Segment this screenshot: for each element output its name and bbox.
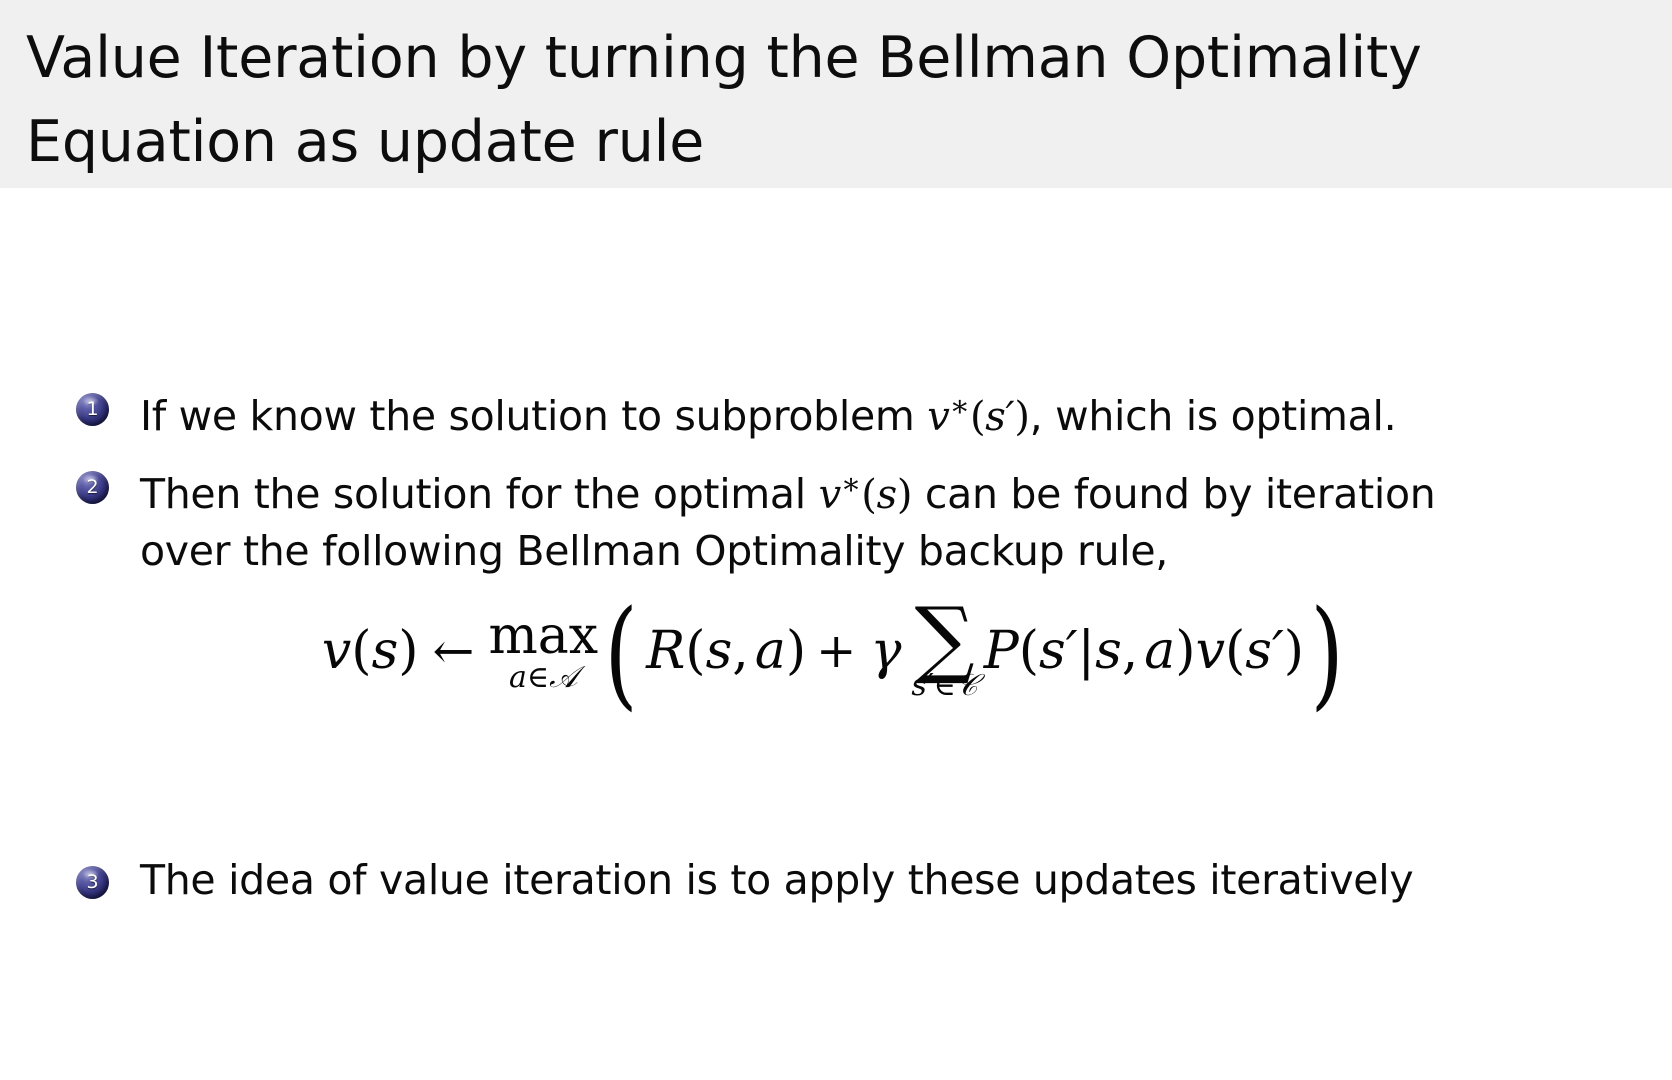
eq-max-subscript: a∈𝒜 bbox=[509, 662, 578, 694]
enumerate-item-3-line-1: The idea of value iteration is to apply … bbox=[140, 847, 1413, 913]
math-star-1: ∗ bbox=[950, 389, 970, 424]
display-equation: v(s) ← max a∈𝒜 ( R(s,a) + γ ∑ s′∈𝒞 P(s′|… bbox=[0, 603, 1672, 699]
eq-P-bar: | bbox=[1078, 622, 1096, 680]
eq-P-comma: , bbox=[1122, 622, 1145, 680]
eq-R-paren-close: ) bbox=[786, 622, 806, 680]
eq-R-comma: , bbox=[732, 622, 755, 680]
eq-gamma: γ bbox=[866, 621, 905, 681]
eq-P-a: a bbox=[1144, 622, 1175, 680]
eq-P-sprime: s bbox=[1039, 622, 1066, 680]
enumerate-item-2-text-b: can be found by iteration bbox=[912, 470, 1435, 518]
enumerate-item-2-text-a: Then the solution for the optimal bbox=[140, 470, 819, 518]
enumerate-item-1-line-1: If we know the solution to subproblem v∗… bbox=[140, 374, 1396, 450]
enumerate-item-1-text-a: If we know the solution to subproblem bbox=[140, 392, 927, 440]
eq-rhs-paren-close: ) bbox=[1284, 622, 1304, 680]
page-title-line-1: Value Iteration by turning the Bellman O… bbox=[26, 16, 1672, 100]
enumerate-bullet-1-icon: 1 bbox=[76, 393, 109, 426]
slide-title-band: Value Iteration by turning the Bellman O… bbox=[0, 0, 1672, 188]
eq-R-s: s bbox=[706, 622, 733, 680]
eq-max-sub-var: a bbox=[509, 660, 527, 695]
eq-R: R bbox=[646, 622, 685, 680]
eq-P-paren-open: ( bbox=[1019, 622, 1039, 680]
eq-summation: ∑ s′∈𝒞 bbox=[911, 607, 977, 703]
eq-lhs-paren-open: ( bbox=[351, 622, 371, 680]
math-paren-close-1: ) bbox=[1014, 394, 1029, 440]
eq-plus: + bbox=[806, 622, 866, 680]
eq-max-operator: max a∈𝒜 bbox=[488, 609, 598, 694]
enumerate-item-2-line-1: Then the solution for the optimal v∗(s) … bbox=[140, 452, 1435, 528]
eq-lhs-s: s bbox=[372, 622, 399, 680]
eq-max-label: max bbox=[488, 609, 598, 663]
enumerate-bullet-2-icon: 2 bbox=[76, 471, 109, 504]
enumerate-bullet-3-icon: 3 bbox=[76, 866, 109, 899]
equation-row: v(s) ← max a∈𝒜 ( R(s,a) + γ ∑ s′∈𝒞 P(s′|… bbox=[322, 603, 1350, 699]
eq-max-sub-set: 𝒜 bbox=[549, 660, 577, 695]
eq-assign-arrow-icon: ← bbox=[419, 622, 489, 680]
eq-lhs-paren-close: ) bbox=[398, 622, 418, 680]
math-paren-open-1: ( bbox=[970, 394, 985, 440]
math-v-1: v bbox=[927, 394, 949, 440]
enumerate-item-2-line-2: over the following Bellman Optimality ba… bbox=[140, 518, 1168, 584]
eq-rhs-s: s bbox=[1245, 622, 1272, 680]
math-sprime-1: s bbox=[985, 394, 1005, 440]
eq-sigma-icon: ∑ bbox=[915, 605, 975, 671]
eq-rhs-paren-open: ( bbox=[1225, 622, 1245, 680]
eq-lhs-v: v bbox=[322, 622, 351, 680]
math-paren-close-2: ) bbox=[897, 472, 912, 518]
eq-rhs-prime: ′ bbox=[1272, 622, 1284, 680]
eq-rhs-v: v bbox=[1196, 622, 1225, 680]
math-star-2: ∗ bbox=[841, 467, 861, 502]
slide-body: 1 If we know the solution to subproblem … bbox=[0, 188, 1672, 1080]
math-prime-1: ′ bbox=[1006, 394, 1015, 440]
eq-max-sub-in: ∈ bbox=[527, 660, 549, 695]
enumerate-item-1-text-b: , which is optimal. bbox=[1030, 392, 1397, 440]
eq-P-s: s bbox=[1095, 622, 1122, 680]
page-title-line-2: Equation as update rule bbox=[26, 100, 1672, 184]
math-v-2: v bbox=[819, 472, 841, 518]
math-paren-open-2: ( bbox=[861, 472, 876, 518]
eq-R-a: a bbox=[755, 622, 786, 680]
math-s-2: s bbox=[877, 472, 897, 518]
eq-P: P bbox=[984, 622, 1019, 680]
eq-R-paren-open: ( bbox=[685, 622, 705, 680]
eq-P-prime-mark: ′ bbox=[1066, 622, 1078, 680]
eq-P-paren-close: ) bbox=[1175, 622, 1195, 680]
